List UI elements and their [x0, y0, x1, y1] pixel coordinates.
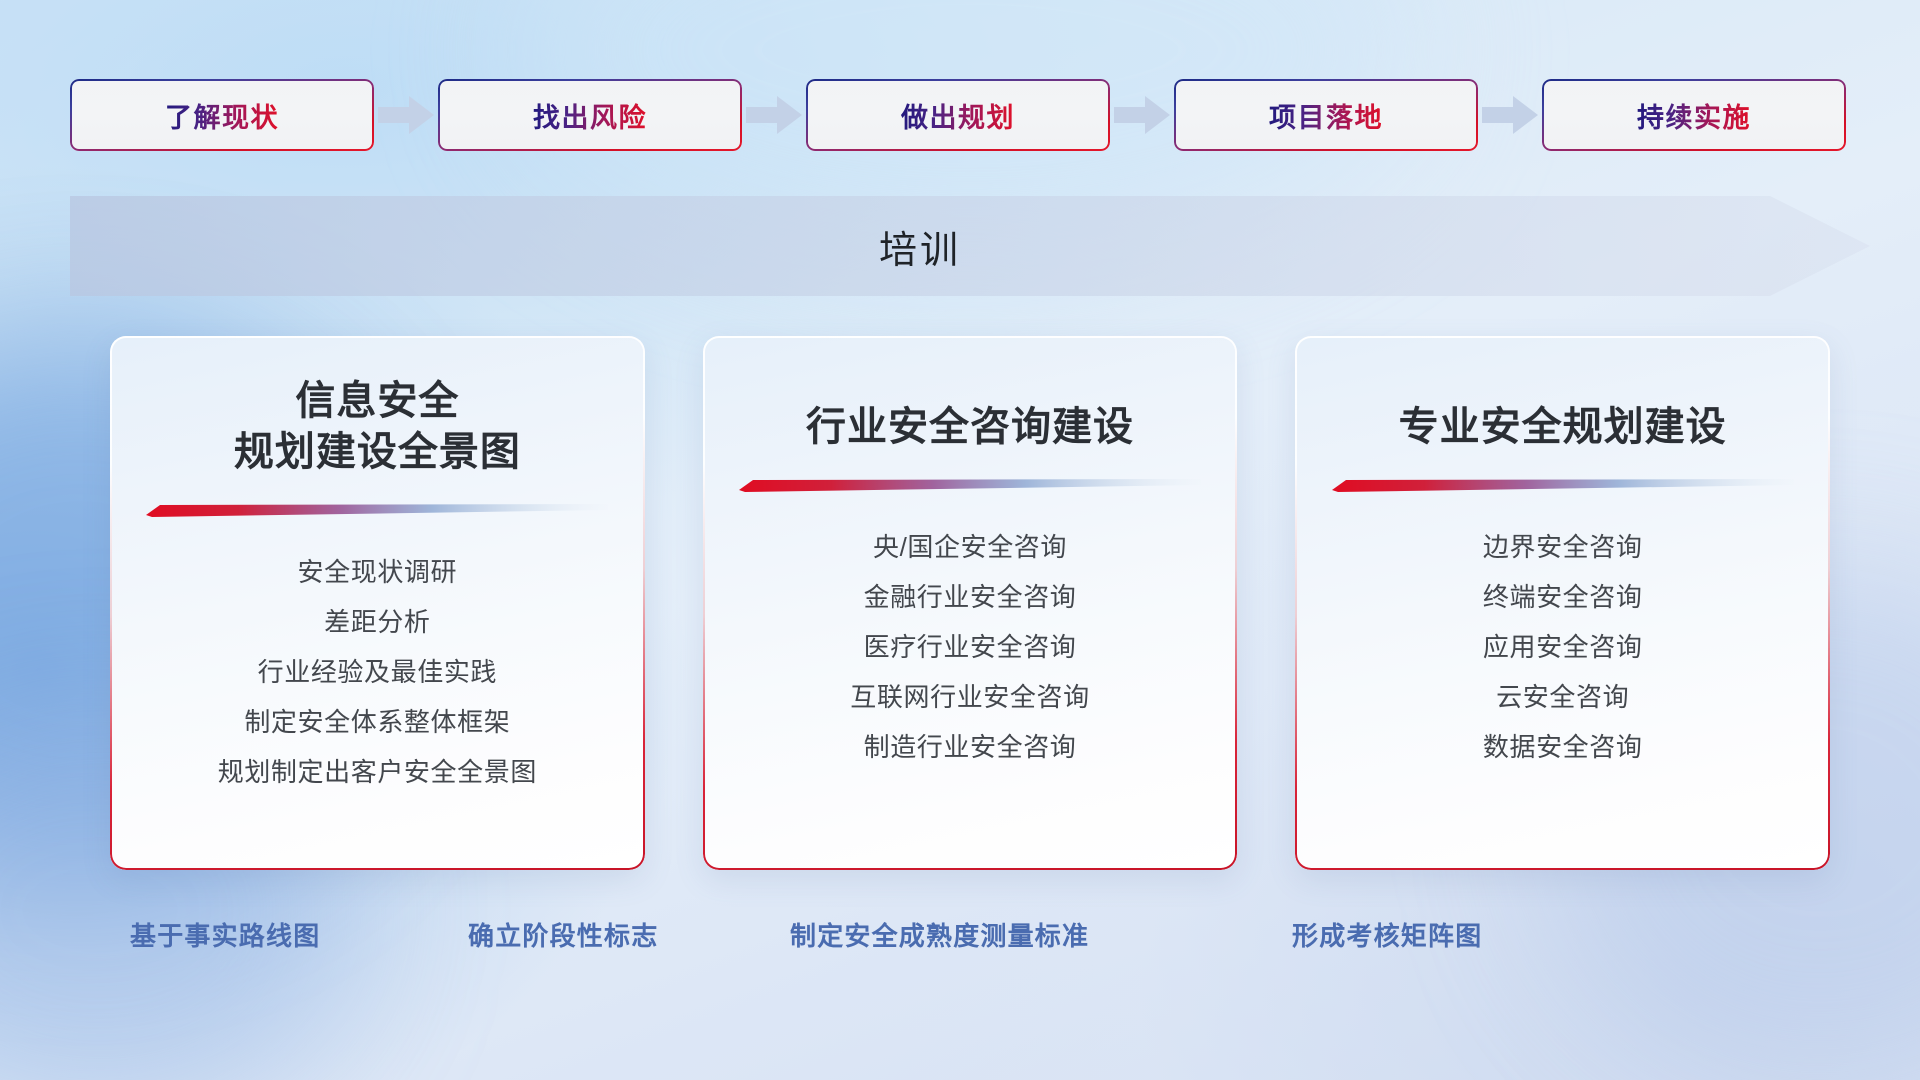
step-label-1: 找出风险 — [533, 96, 647, 135]
card-list-item: 医疗行业安全咨询 — [731, 622, 1210, 672]
caption-1: 确立阶段性标志 — [468, 916, 658, 953]
step-box-2[interactable]: 做出规划 — [806, 79, 1110, 151]
card-title-1: 行业安全咨询建设 — [806, 402, 1134, 453]
card-list-item: 应用安全咨询 — [1323, 622, 1802, 672]
card-list-item: 制定安全体系整体框架 — [138, 697, 617, 747]
card-list-item: 互联网行业安全咨询 — [731, 672, 1210, 722]
training-banner-title: 培训 — [70, 196, 1770, 296]
step-box-3[interactable]: 项目落地 — [1174, 79, 1478, 151]
card-list-item: 央/国企安全咨询 — [731, 522, 1210, 572]
card-list-item: 安全现状调研 — [138, 547, 617, 597]
step-label-4: 持续实施 — [1637, 96, 1751, 135]
caption-0: 基于事实路线图 — [130, 916, 320, 953]
card-list-item: 边界安全咨询 — [1323, 522, 1802, 572]
infographic-canvas: 了解现状 找出风险 做出规划 项目落地 — [0, 0, 1920, 1080]
card-list-item: 金融行业安全咨询 — [731, 572, 1210, 622]
card-list-item: 规划制定出客户安全全景图 — [138, 747, 617, 797]
process-step-row: 了解现状 找出风险 做出规划 项目落地 — [70, 78, 1860, 152]
step-box-4[interactable]: 持续实施 — [1542, 79, 1846, 151]
step-label-3: 项目落地 — [1269, 96, 1383, 135]
step-box-1[interactable]: 找出风险 — [438, 79, 742, 151]
card-title-0: 信息安全 规划建设全景图 — [234, 376, 521, 478]
card-list-0: 安全现状调研 差距分析 行业经验及最佳实践 制定安全体系整体框架 规划制定出客户… — [138, 547, 617, 797]
step-arrow-icon-2 — [1110, 95, 1174, 135]
step-box-0[interactable]: 了解现状 — [70, 79, 374, 151]
card-row: 信息安全 规划建设全景图 — [110, 336, 1830, 870]
card-1[interactable]: 行业安全咨询建设 — [703, 336, 1238, 870]
step-label-2: 做出规划 — [901, 96, 1015, 135]
card-list-item: 云安全咨询 — [1323, 672, 1802, 722]
caption-2: 制定安全成熟度测量标准 — [790, 916, 1089, 953]
card-divider-1 — [739, 479, 1201, 492]
card-list-item: 差距分析 — [138, 597, 617, 647]
step-arrow-icon-3 — [1478, 95, 1542, 135]
card-list-1: 央/国企安全咨询 金融行业安全咨询 医疗行业安全咨询 互联网行业安全咨询 制造行… — [731, 522, 1210, 772]
card-list-item: 制造行业安全咨询 — [731, 722, 1210, 772]
step-label-0: 了解现状 — [165, 96, 279, 135]
card-list-item: 数据安全咨询 — [1323, 722, 1802, 772]
card-list-item: 终端安全咨询 — [1323, 572, 1802, 622]
card-divider-2 — [1332, 479, 1794, 492]
step-arrow-icon-1 — [742, 95, 806, 135]
card-list-item: 行业经验及最佳实践 — [138, 647, 617, 697]
card-2[interactable]: 专业安全规划建设 — [1295, 336, 1830, 870]
caption-3: 形成考核矩阵图 — [1292, 916, 1482, 953]
card-title-2: 专业安全规划建设 — [1399, 402, 1727, 453]
card-list-2: 边界安全咨询 终端安全咨询 应用安全咨询 云安全咨询 数据安全咨询 — [1323, 522, 1802, 772]
card-divider-0 — [146, 504, 608, 517]
card-0[interactable]: 信息安全 规划建设全景图 — [110, 336, 645, 870]
step-arrow-icon-0 — [374, 95, 438, 135]
